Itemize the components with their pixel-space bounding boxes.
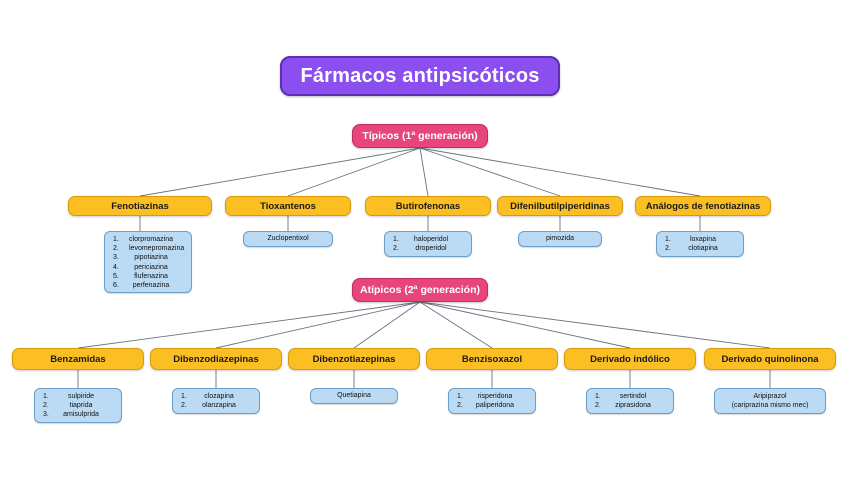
drug-index: 2. (591, 401, 611, 410)
category-node-analogos-fenotiazinas[interactable]: Análogos de fenotiazinas (635, 196, 771, 216)
drug-list-items: 1.clozapina 2.olanzapina (177, 392, 255, 410)
drug-list-items: 1.haloperidol 2.droperidol (389, 235, 467, 253)
drug-list-derivado-indolico: 1.sertindol 2.ziprasidona (586, 388, 674, 414)
drug-name: olanzapina (197, 401, 255, 410)
list-item: 1.clorpromazina (109, 235, 187, 244)
list-item: 2.tiaprida (39, 401, 117, 410)
drug-list-analogos-fenotiazinas: 1.loxapina 2.clotiapina (656, 231, 744, 257)
category-label-derivado-indolico: Derivado indólico (590, 354, 670, 365)
category-node-difenilbutilpiperidinas[interactable]: Difenilbutilpiperidinas (497, 196, 623, 216)
drug-index: 2. (39, 401, 59, 410)
drug-list-fenotiazinas: 1.clorpromazina 2.levomepromazina 3.pipo… (104, 231, 192, 293)
drug-index: 2. (177, 401, 197, 410)
drug-name: clotiapina (681, 244, 739, 253)
category-label-derivado-quinolinona: Derivado quinolinona (721, 354, 818, 365)
category-label-benzamidas: Benzamidas (50, 354, 105, 365)
list-item: 1.risperidona (453, 392, 531, 401)
drug-index: 2. (109, 244, 129, 253)
list-item: 4.periciazina (109, 263, 187, 272)
generation-label-atipicos: Atípicos (2ª generación) (360, 284, 480, 296)
category-node-tioxantenos[interactable]: Tioxantenos (225, 196, 351, 216)
drug-name-group: Aripiprazol (cariprazina mismo mec) (719, 392, 821, 411)
category-node-butirofenonas[interactable]: Butirofenonas (365, 196, 491, 216)
drug-list-butirofenonas: 1.haloperidol 2.droperidol (384, 231, 472, 257)
drug-index: 1. (177, 392, 197, 401)
list-item: 1.haloperidol (389, 235, 467, 244)
drug-index: 4. (109, 263, 129, 272)
drug-list-items: 1.clorpromazina 2.levomepromazina 3.pipo… (109, 235, 187, 290)
category-node-dibenzotiazepinas[interactable]: Dibenzotiazepinas (288, 348, 420, 370)
list-item: 5.flufenazina (109, 272, 187, 281)
drug-index: 5. (109, 272, 129, 281)
category-label-analogos-fenotiazinas: Análogos de fenotiazinas (646, 201, 761, 212)
list-item: 1.loxapina (661, 235, 739, 244)
drug-name: Quetiapina (315, 391, 393, 401)
drug-index: 2. (661, 244, 681, 253)
drug-list-tioxantenos: Zuclopentixol (243, 231, 333, 247)
generation-node-tipicos[interactable]: Típicos (1ª generación) (352, 124, 488, 148)
drug-name: risperidona (473, 392, 531, 401)
category-label-benzisoxazol: Benzisoxazol (462, 354, 522, 365)
drug-name: amisulprida (59, 410, 117, 419)
list-item: 2.levomepromazina (109, 244, 187, 253)
drug-name: loxapina (681, 235, 739, 244)
drug-name: sulpiride (59, 392, 117, 401)
drug-list-items: 1.loxapina 2.clotiapina (661, 235, 739, 253)
drug-index: 2. (453, 401, 473, 410)
category-node-fenotiazinas[interactable]: Fenotiazinas (68, 196, 212, 216)
category-node-benzamidas[interactable]: Benzamidas (12, 348, 144, 370)
category-node-derivado-indolico[interactable]: Derivado indólico (564, 348, 696, 370)
drug-name: haloperidol (409, 235, 467, 244)
drug-index: 3. (39, 410, 59, 419)
category-label-dibenzotiazepinas: Dibenzotiazepinas (313, 354, 396, 365)
drug-list-items: 1.sulpiride 2.tiaprida 3.amisulprida (39, 392, 117, 420)
drug-list-items: 1.sertindol 2.ziprasidona (591, 392, 669, 410)
drug-name: Aripiprazol (753, 393, 786, 400)
generation-label-tipicos: Típicos (1ª generación) (362, 130, 477, 142)
list-item: 2.clotiapina (661, 244, 739, 253)
drug-name: perfenazina (129, 281, 187, 290)
drug-list-dibenzodiazepinas: 1.clozapina 2.olanzapina (172, 388, 260, 414)
drug-name: flufenazina (129, 272, 187, 281)
drug-index: 3. (109, 253, 129, 262)
drug-note: (cariprazina mismo mec) (732, 402, 809, 409)
root-title-node: Fármacos antipsicóticos (280, 56, 560, 96)
drug-list-items: 1.risperidona 2.paliperidona (453, 392, 531, 410)
list-item: 3.pipotiazina (109, 253, 187, 262)
list-item: 2.droperidol (389, 244, 467, 253)
drug-index: 2. (389, 244, 409, 253)
category-label-butirofenonas: Butirofenonas (396, 201, 460, 212)
drug-name: sertindol (611, 392, 669, 401)
drug-index: 1. (109, 235, 129, 244)
drug-index: 1. (591, 392, 611, 401)
list-item: 1.sertindol (591, 392, 669, 401)
drug-name: tiaprida (59, 401, 117, 410)
drug-index: 1. (39, 392, 59, 401)
root-title-label: Fármacos antipsicóticos (300, 65, 539, 88)
list-item: 2.paliperidona (453, 401, 531, 410)
drug-name: ziprasidona (611, 401, 669, 410)
drug-name: clozapina (197, 392, 255, 401)
drug-index: 1. (453, 392, 473, 401)
list-item: 1.sulpiride (39, 392, 117, 401)
drug-index: 1. (661, 235, 681, 244)
category-node-derivado-quinolinona[interactable]: Derivado quinolinona (704, 348, 836, 370)
category-node-benzisoxazol[interactable]: Benzisoxazol (426, 348, 558, 370)
drug-list-benzamidas: 1.sulpiride 2.tiaprida 3.amisulprida (34, 388, 122, 423)
category-node-dibenzodiazepinas[interactable]: Dibenzodiazepinas (150, 348, 282, 370)
drug-name: periciazina (129, 263, 187, 272)
list-item: 6.perfenazina (109, 281, 187, 290)
category-label-difenilbutilpiperidinas: Difenilbutilpiperidinas (510, 201, 610, 212)
drug-index: 1. (389, 235, 409, 244)
list-item: 3.amisulprida (39, 410, 117, 419)
drug-name: pipotiazina (129, 253, 187, 262)
list-item: 2.ziprasidona (591, 401, 669, 410)
drug-name: clorpromazina (129, 235, 187, 244)
drug-list-derivado-quinolinona: Aripiprazol (cariprazina mismo mec) (714, 388, 826, 414)
category-label-tioxantenos: Tioxantenos (260, 201, 316, 212)
drug-name: levomepromazina (129, 244, 198, 253)
generation-node-atipicos[interactable]: Atípicos (2ª generación) (352, 278, 488, 302)
drug-name: droperidol (409, 244, 467, 253)
drug-name: paliperidona (473, 401, 531, 410)
drug-list-dibenzotiazepinas: Quetiapina (310, 388, 398, 404)
drug-list-benzisoxazol: 1.risperidona 2.paliperidona (448, 388, 536, 414)
list-item: 2.olanzapina (177, 401, 255, 410)
category-label-dibenzodiazepinas: Dibenzodiazepinas (173, 354, 259, 365)
diagram-canvas: Fármacos antipsicóticos Típicos (1ª gene… (0, 0, 848, 477)
drug-name: Zuclopentixol (248, 234, 328, 244)
category-label-fenotiazinas: Fenotiazinas (111, 201, 169, 212)
drug-index: 6. (109, 281, 129, 290)
drug-list-difenilbutilpiperidinas: pimozida (518, 231, 602, 247)
list-item: 1.clozapina (177, 392, 255, 401)
drug-name: pimozida (523, 234, 597, 244)
